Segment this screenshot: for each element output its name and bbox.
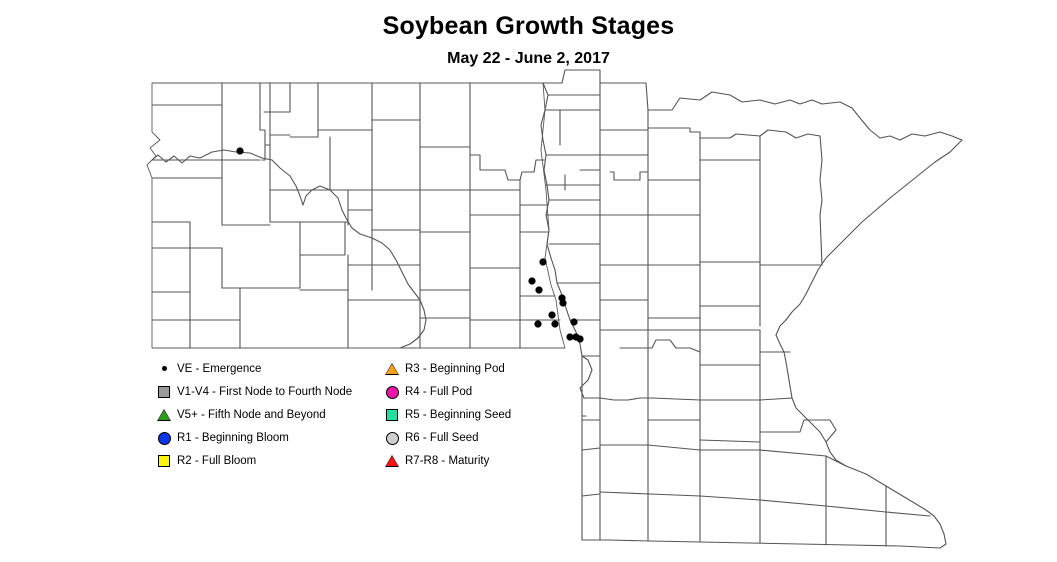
circle-symbol-icon: [383, 428, 405, 448]
map-data-point[interactable]: [571, 319, 578, 326]
legend-column-right: R3 - Beginning PodR4 - Full PodR5 - Begi…: [383, 357, 515, 472]
map-data-point[interactable]: [529, 278, 536, 285]
square-symbol-icon: [155, 382, 177, 402]
legend-item-label: V1-V4 - First Node to Fourth Node: [177, 386, 352, 398]
map-data-point[interactable]: [540, 259, 547, 266]
legend-item[interactable]: R4 - Full Pod: [383, 380, 515, 403]
legend-item[interactable]: R1 - Beginning Bloom: [155, 426, 380, 449]
square-symbol-icon: [155, 451, 177, 471]
legend-item-label: R3 - Beginning Pod: [405, 363, 505, 375]
square-symbol-icon: [383, 405, 405, 425]
triangle-symbol-icon: [383, 359, 405, 379]
legend-item[interactable]: R2 - Full Bloom: [155, 449, 380, 472]
circle-symbol-icon: [155, 428, 177, 448]
legend-column-left: VE - EmergenceV1-V4 - First Node to Four…: [155, 357, 380, 472]
legend-item[interactable]: R5 - Beginning Seed: [383, 403, 515, 426]
north-dakota-counties: [147, 83, 565, 348]
legend-item-label: R1 - Beginning Bloom: [177, 432, 289, 444]
map-data-point[interactable]: [536, 287, 543, 294]
soybean-growth-stages-map-page: Soybean Growth Stages May 22 - June 2, 2…: [0, 0, 1057, 562]
map-data-point[interactable]: [577, 336, 584, 343]
legend-item-label: V5+ - Fifth Node and Beyond: [177, 409, 326, 421]
map-data-point[interactable]: [237, 148, 244, 155]
circle-symbol-icon: [383, 382, 405, 402]
map-data-point[interactable]: [552, 321, 559, 328]
dot-symbol-icon: [155, 359, 177, 379]
legend-item-label: R5 - Beginning Seed: [405, 409, 511, 421]
states-county-map: [0, 0, 1057, 562]
legend-item[interactable]: VE - Emergence: [155, 357, 380, 380]
legend-item[interactable]: V1-V4 - First Node to Fourth Node: [155, 380, 380, 403]
minnesota-counties: [541, 70, 962, 548]
legend: VE - EmergenceV1-V4 - First Node to Four…: [155, 357, 515, 473]
legend-item[interactable]: R7-R8 - Maturity: [383, 449, 515, 472]
map-data-point[interactable]: [535, 321, 542, 328]
legend-item-label: R2 - Full Bloom: [177, 455, 256, 467]
triangle-symbol-icon: [383, 451, 405, 471]
legend-item[interactable]: V5+ - Fifth Node and Beyond: [155, 403, 380, 426]
legend-item-label: R4 - Full Pod: [405, 386, 472, 398]
legend-item-label: R7-R8 - Maturity: [405, 455, 489, 467]
map-data-point[interactable]: [549, 312, 556, 319]
triangle-symbol-icon: [155, 405, 177, 425]
map-data-point[interactable]: [560, 300, 567, 307]
legend-item[interactable]: R3 - Beginning Pod: [383, 357, 515, 380]
legend-item-label: R6 - Full Seed: [405, 432, 479, 444]
map-canvas: [0, 0, 1057, 562]
legend-item-label: VE - Emergence: [177, 363, 261, 375]
legend-item[interactable]: R6 - Full Seed: [383, 426, 515, 449]
